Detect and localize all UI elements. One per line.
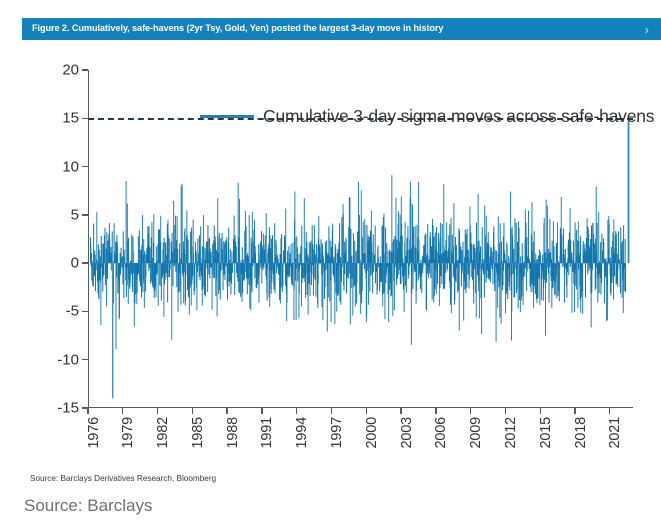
x-tick-label: 2000 — [364, 417, 380, 448]
y-tick-mark — [82, 359, 88, 360]
x-tick-label: 1979 — [120, 417, 136, 448]
x-tick-label: 1976 — [86, 417, 102, 448]
figure-source-note: Source: Barclays Derivatives Research, B… — [30, 474, 216, 483]
legend-line-swatch — [200, 115, 254, 117]
x-tick-label: 2021 — [607, 417, 623, 448]
x-tick-label: 1988 — [225, 417, 241, 448]
bottom-source-caption: Source: Barclays — [24, 496, 153, 516]
y-tick-label: 0 — [71, 255, 79, 272]
x-tick-mark — [435, 408, 436, 414]
x-tick-label: 1991 — [259, 417, 275, 448]
figure-header-title: Figure 2. Cumulatively, safe-havens (2yr… — [32, 24, 645, 33]
x-tick-mark — [400, 408, 401, 414]
chart-plot-area: 20151050-5-10-15 19761979198219851988199… — [88, 70, 633, 408]
y-tick-label: -15 — [57, 400, 79, 417]
x-tick-mark — [261, 408, 262, 414]
y-tick-mark — [82, 166, 88, 167]
x-tick-mark — [609, 408, 610, 414]
x-tick-mark — [505, 408, 506, 414]
x-tick-label: 1982 — [155, 417, 171, 448]
x-tick-label: 1994 — [294, 417, 310, 448]
x-tick-mark — [470, 408, 471, 414]
x-tick-mark — [192, 408, 193, 414]
legend-label: Cumulative 3-day sigma moves across safe… — [263, 106, 654, 127]
y-tick-label: 15 — [62, 110, 79, 127]
y-tick-mark — [82, 214, 88, 215]
x-tick-label: 2006 — [433, 417, 449, 448]
y-tick-label: 10 — [62, 158, 79, 175]
figure-header-banner[interactable]: Figure 2. Cumulatively, safe-havens (2yr… — [22, 18, 661, 40]
chevron-right-icon[interactable]: › — [645, 23, 651, 36]
x-tick-mark — [366, 408, 367, 414]
x-tick-label: 2015 — [538, 417, 554, 448]
x-tick-mark — [296, 408, 297, 414]
x-tick-mark — [157, 408, 158, 414]
x-tick-mark — [122, 408, 123, 414]
x-tick-label: 2018 — [573, 417, 589, 448]
x-tick-label: 2003 — [399, 417, 415, 448]
chart-legend: Cumulative 3-day sigma moves across safe… — [200, 106, 654, 127]
x-tick-label: 1997 — [329, 417, 345, 448]
x-tick-mark — [226, 408, 227, 414]
x-tick-mark — [574, 408, 575, 414]
x-tick-mark — [87, 408, 88, 414]
y-tick-label: 5 — [71, 206, 79, 223]
y-tick-mark — [82, 69, 88, 70]
y-tick-label: 20 — [62, 62, 79, 79]
y-tick-label: -5 — [66, 303, 79, 320]
x-tick-label: 2012 — [503, 417, 519, 448]
x-tick-mark — [331, 408, 332, 414]
figure-card: 20151050-5-10-15 19761979198219851988199… — [22, 40, 661, 490]
x-tick-label: 1985 — [190, 417, 206, 448]
y-tick-mark — [82, 311, 88, 312]
x-tick-label: 2009 — [468, 417, 484, 448]
y-tick-label: -10 — [57, 351, 79, 368]
x-tick-mark — [540, 408, 541, 414]
y-tick-mark — [82, 262, 88, 263]
